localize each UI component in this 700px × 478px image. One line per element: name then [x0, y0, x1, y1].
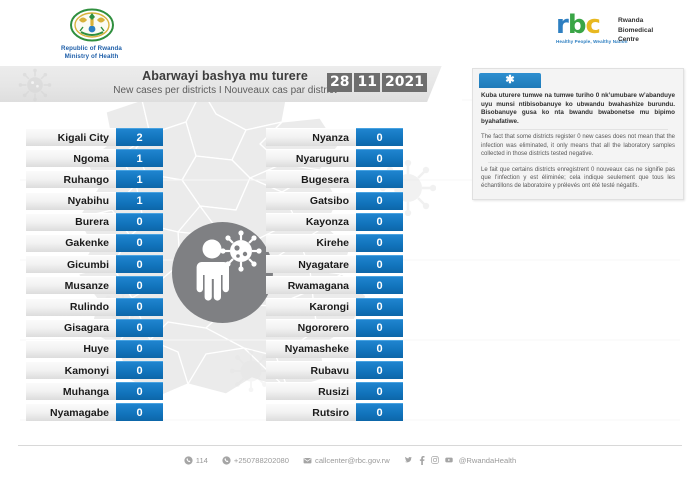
phone-icon: [222, 456, 231, 465]
district-row: Nyagatare0: [266, 255, 403, 273]
district-name: Rulindo: [26, 298, 116, 316]
district-row: Huye0: [26, 340, 163, 358]
district-row: Rutsiro0: [266, 403, 403, 421]
district-name: Kayonza: [266, 213, 356, 231]
date-day: 28: [327, 73, 352, 92]
district-name: Nyanza: [266, 128, 356, 146]
district-case-count: 0: [356, 149, 403, 167]
district-row: Nyaruguru0: [266, 149, 403, 167]
district-row: Gisagara0: [26, 319, 163, 337]
district-row: Ruhango1: [26, 170, 163, 188]
phone-item[interactable]: +250788202080: [222, 456, 289, 465]
district-row: Nyanza0: [266, 128, 403, 146]
district-name: Kirehe: [266, 234, 356, 252]
email-item[interactable]: callcenter@rbc.gov.rw: [303, 456, 390, 465]
date-year: 2021: [382, 73, 427, 92]
district-row: Bugesera0: [266, 170, 403, 188]
district-case-count: 0: [356, 170, 403, 188]
explanatory-note-box: ✱ Kuba uturere tumwe na tumwe turiho 0 n…: [472, 68, 684, 200]
district-case-count: 1: [116, 192, 163, 210]
district-row: Musanze0: [26, 276, 163, 294]
district-case-count: 0: [356, 234, 403, 252]
district-case-count: 0: [356, 319, 403, 337]
district-case-count: 0: [116, 340, 163, 358]
district-case-count: 0: [356, 192, 403, 210]
district-case-count: 0: [116, 255, 163, 273]
district-case-count: 0: [356, 361, 403, 379]
district-name: Kamonyi: [26, 361, 116, 379]
district-row: Rusizi0: [266, 382, 403, 400]
district-case-count: 0: [116, 234, 163, 252]
district-row: Rwamagana0: [266, 276, 403, 294]
social-handle: @RwandaHealth: [459, 456, 517, 465]
district-case-count: 0: [116, 361, 163, 379]
district-name: Gicumbi: [26, 255, 116, 273]
district-name: Nyagatare: [266, 255, 356, 273]
district-case-count: 0: [356, 382, 403, 400]
district-name: Burera: [26, 213, 116, 231]
youtube-icon[interactable]: [445, 456, 453, 464]
district-name: Nyabihu: [26, 192, 116, 210]
ministry-name-line-1: Republic of Rwanda: [44, 45, 139, 53]
district-row: Karongi0: [266, 298, 403, 316]
district-row: Kirehe0: [266, 234, 403, 252]
district-name: Rwamagana: [266, 276, 356, 294]
district-case-count: 2: [116, 128, 163, 146]
hotline-number: 114: [196, 456, 208, 465]
district-name: Karongi: [266, 298, 356, 316]
district-row: Gicumbi0: [26, 255, 163, 273]
note-body: Kuba uturere tumwe na tumwe turiho 0 nk’…: [473, 88, 683, 193]
asterisk-icon: ✱: [505, 75, 514, 86]
district-case-count: 0: [116, 382, 163, 400]
district-row: Burera0: [26, 213, 163, 231]
district-name: Rutsiro: [266, 403, 356, 421]
note-text-french: Le fait que certains districts enregistr…: [481, 166, 675, 191]
ministry-of-health-logo: Republic of Rwanda Ministry of Health: [44, 8, 139, 64]
twitter-icon[interactable]: [404, 456, 413, 464]
district-case-count: 0: [356, 403, 403, 421]
district-case-count: 0: [356, 213, 403, 231]
district-row: Gatsibo0: [266, 192, 403, 210]
rbc-name-line-3: Centre: [618, 35, 653, 45]
district-case-count: 0: [116, 276, 163, 294]
district-row: Nyamasheke0: [266, 340, 403, 358]
note-tab: ✱: [479, 73, 541, 88]
district-row: Nyamagabe0: [26, 403, 163, 421]
district-row: Muhanga0: [26, 382, 163, 400]
district-case-count: 0: [116, 403, 163, 421]
district-name: Kigali City: [26, 128, 116, 146]
district-name: Huye: [26, 340, 116, 358]
district-case-count: 0: [356, 128, 403, 146]
note-divider-1: [488, 129, 668, 130]
district-row: Ngororero0: [266, 319, 403, 337]
district-name: Nyamasheke: [266, 340, 356, 358]
note-text-english: The fact that some districts register 0 …: [481, 133, 675, 158]
footer-divider: [18, 445, 682, 446]
instagram-icon[interactable]: [431, 456, 439, 464]
rbc-name-line-1: Rwanda: [618, 16, 653, 26]
district-case-count: 0: [116, 213, 163, 231]
coronavirus-icon: [18, 68, 52, 102]
note-divider-2: [488, 162, 668, 163]
district-case-count: 0: [356, 276, 403, 294]
rbc-full-name: Rwanda Biomedical Centre: [618, 16, 653, 45]
district-row: Kigali City2: [26, 128, 163, 146]
covid-district-report-page: Republic of Rwanda Ministry of Health rb…: [0, 0, 700, 478]
district-name: Gisagara: [26, 319, 116, 337]
social-links[interactable]: @RwandaHealth: [404, 456, 517, 465]
district-case-count: 0: [356, 340, 403, 358]
district-case-count: 0: [356, 255, 403, 273]
report-date: 28 11 2021: [327, 73, 427, 92]
district-case-count: 1: [116, 170, 163, 188]
district-name: Gatsibo: [266, 192, 356, 210]
district-case-count: 0: [116, 319, 163, 337]
phone-icon: [184, 456, 193, 465]
district-name: Nyamagabe: [26, 403, 116, 421]
district-row: Gakenke0: [26, 234, 163, 252]
district-row: Rulindo0: [26, 298, 163, 316]
district-case-count: 1: [116, 149, 163, 167]
district-row: Kamonyi0: [26, 361, 163, 379]
district-list-right: Nyanza0Nyaruguru0Bugesera0Gatsibo0Kayonz…: [266, 128, 403, 425]
district-name: Bugesera: [266, 170, 356, 188]
district-name: Rubavu: [266, 361, 356, 379]
district-case-count: 0: [116, 298, 163, 316]
note-text-kinyarwanda: Kuba uturere tumwe na tumwe turiho 0 nk’…: [481, 92, 675, 126]
district-list-left: Kigali City2Ngoma1Ruhango1Nyabihu1Burera…: [26, 128, 163, 425]
district-name: Muhanga: [26, 382, 116, 400]
hotline-item[interactable]: 114: [184, 456, 208, 465]
district-row: Ngoma1: [26, 149, 163, 167]
date-month: 11: [354, 73, 379, 92]
envelope-icon: [303, 456, 312, 465]
rwanda-coat-of-arms-icon: [69, 8, 115, 44]
district-case-count: 0: [356, 298, 403, 316]
district-name: Ngoma: [26, 149, 116, 167]
district-row: Kayonza0: [266, 213, 403, 231]
phone-number: +250788202080: [234, 456, 289, 465]
district-name: Rusizi: [266, 382, 356, 400]
district-row: Rubavu0: [266, 361, 403, 379]
facebook-icon[interactable]: [419, 456, 425, 465]
footer: 114 +250788202080 callcenter@rbc.gov.rw: [0, 450, 700, 470]
district-name: Musanze: [26, 276, 116, 294]
email-address: callcenter@rbc.gov.rw: [315, 456, 390, 465]
district-row: Nyabihu1: [26, 192, 163, 210]
district-name: Ruhango: [26, 170, 116, 188]
district-name: Nyaruguru: [266, 149, 356, 167]
district-name: Gakenke: [26, 234, 116, 252]
person-virus-graphic: [172, 222, 273, 323]
ministry-name-line-2: Ministry of Health: [44, 53, 139, 61]
district-name: Ngororero: [266, 319, 356, 337]
rbc-name-line-2: Biomedical: [618, 26, 653, 36]
coronavirus-icon: [220, 230, 261, 271]
rbc-logo: rbc Healthy People, Wealthy Nation Rwand…: [556, 12, 681, 56]
